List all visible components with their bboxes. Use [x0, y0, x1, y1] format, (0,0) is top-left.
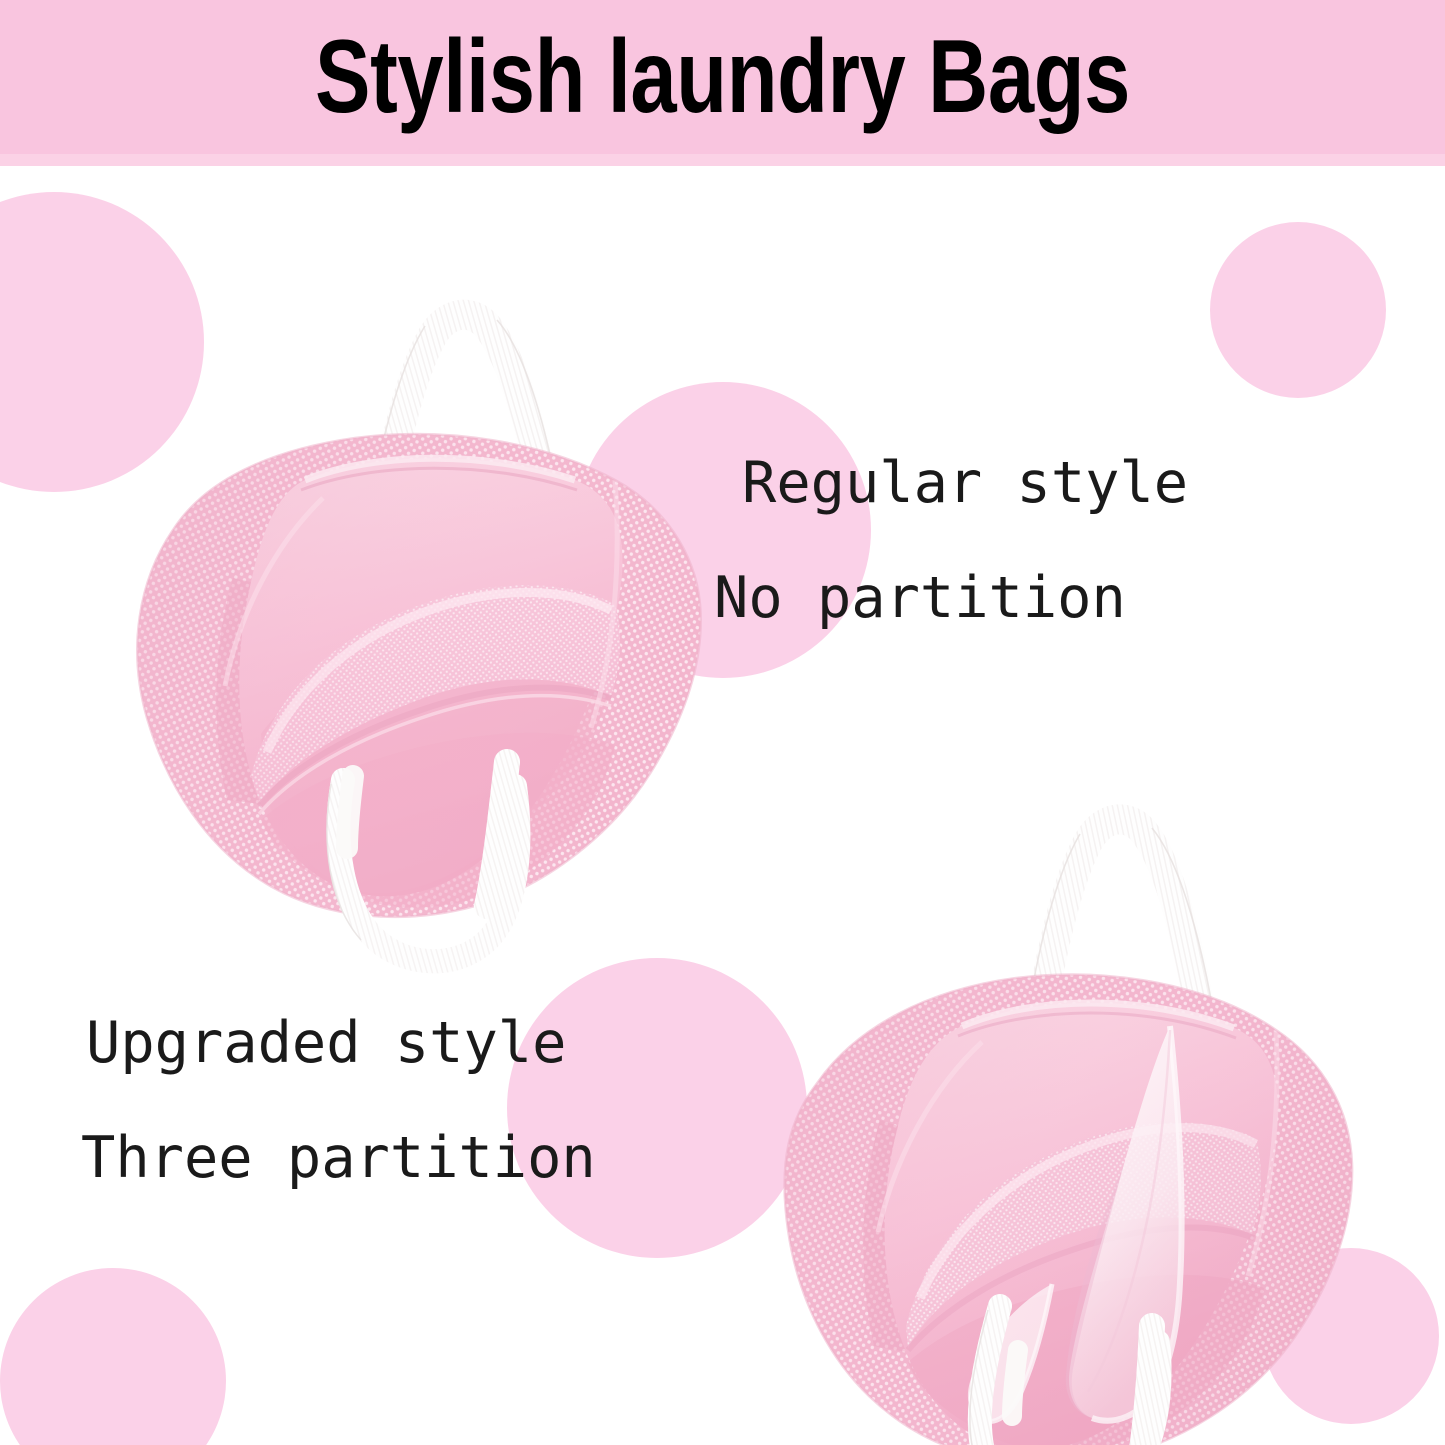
page-title: Stylish laundry Bags [145, 0, 1301, 154]
label-regular-style-line-1: Regular style [742, 455, 1188, 512]
header-banner-fade [0, 154, 1445, 166]
label-upgraded-style: Upgraded style Three partition [86, 1015, 596, 1187]
infographic-canvas: Stylish laundry Bags Regular style No pa… [0, 0, 1445, 1445]
label-regular-style: Regular style No partition [742, 455, 1188, 627]
label-regular-style-line-2: No partition [714, 570, 1188, 627]
product-image-regular-bag [55, 180, 715, 900]
label-upgraded-style-line-1: Upgraded style [86, 1015, 596, 1072]
product-image-upgraded-bag [700, 690, 1380, 1410]
decorative-circle-top-right [1210, 222, 1386, 398]
label-upgraded-style-line-2: Three partition [81, 1130, 596, 1187]
bag-body [700, 950, 1380, 1445]
decorative-circle-bottom-left [0, 1268, 226, 1445]
